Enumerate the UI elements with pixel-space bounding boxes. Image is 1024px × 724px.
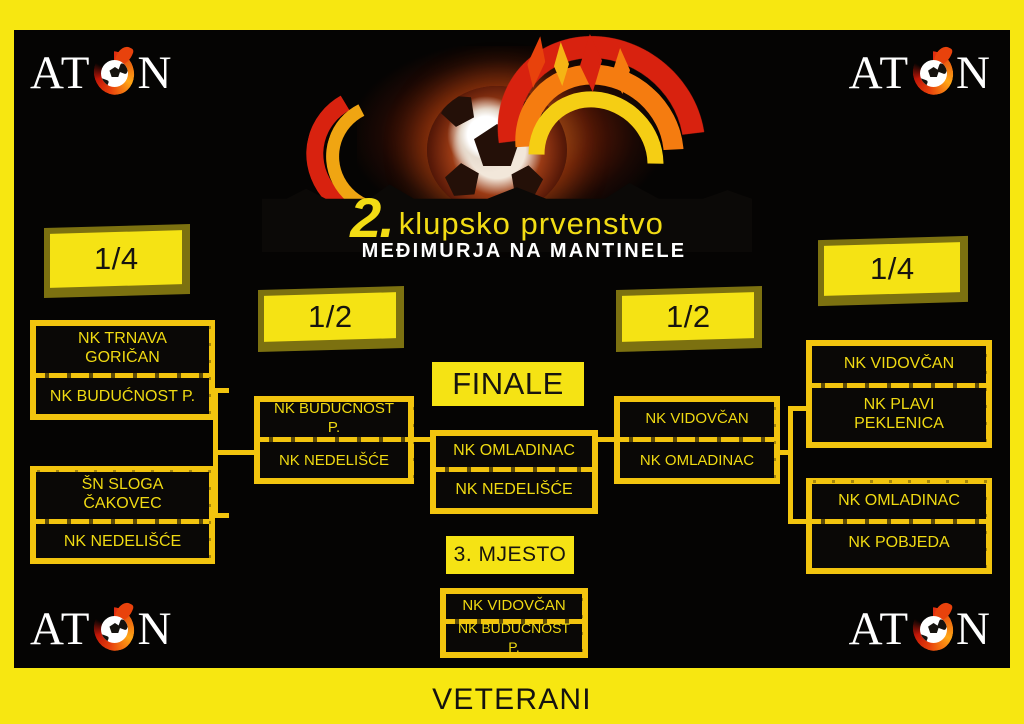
- team-name: NK TRNAVA GORIČAN: [42, 329, 203, 367]
- match-divider: [812, 383, 986, 388]
- match-third-place[interactable]: NK VIDOVČAN NK BUDUĆNOST P.: [440, 588, 588, 658]
- team-name: NK BUDUĆNOST P.: [452, 619, 576, 657]
- round-label-final: FINALE: [432, 362, 584, 406]
- team-name: NK VIDOVČAN: [844, 354, 954, 373]
- match-semifinal-right[interactable]: NK VIDOVČAN NK OMLADINAC: [614, 396, 780, 484]
- team-name: NK OMLADINAC: [838, 491, 960, 510]
- aton-logo-bottom-left: AT N: [30, 602, 173, 656]
- team-slot: NK VIDOVČAN: [618, 400, 776, 436]
- aton-logo-text-right: N: [956, 50, 992, 97]
- team-name: NK VIDOVČAN: [462, 596, 565, 615]
- team-name: NK OMLADINAC: [453, 441, 575, 460]
- team-slot: NK OMLADINAC: [618, 443, 776, 477]
- match-final[interactable]: NK OMLADINAC NK NEDELIŠĆE: [430, 430, 598, 514]
- team-slot: NK OMLADINAC: [434, 434, 594, 466]
- event-title: klupsko prvenstvo: [399, 208, 664, 240]
- event-subtitle: MEĐIMURJA NA MANTINELE: [262, 239, 752, 263]
- round-label-semi-right: 1/2: [616, 288, 762, 350]
- team-slot: NK BUDUĆNOST P.: [258, 400, 410, 436]
- team-slot: NK TRNAVA GORIČAN: [34, 324, 211, 372]
- team-name: NK BUDUĆNOST P.: [50, 387, 195, 406]
- round-label-text: 1/2: [308, 299, 353, 335]
- team-name: NK NEDELIŠĆE: [64, 532, 181, 551]
- tournament-bracket-poster: AT N AT N AT N AT: [0, 0, 1024, 724]
- match-quarterfinal-right-1[interactable]: NK VIDOVČAN NK PLAVI PEKLENICA: [806, 340, 992, 448]
- round-label-text: 1/4: [870, 251, 915, 287]
- category-banner: VETERANI: [0, 676, 1024, 724]
- category-title: VETERANI: [432, 683, 592, 717]
- soccer-ball-flame-icon: [911, 604, 955, 654]
- connector-right-quarter-merge: [776, 450, 792, 455]
- team-slot: NK POBJEDA: [810, 525, 988, 559]
- connector-right-quarter-bottom: [788, 519, 808, 524]
- match-divider: [36, 373, 209, 378]
- match-quarterfinal-left-1[interactable]: NK TRNAVA GORIČAN NK BUDUĆNOST P.: [30, 320, 215, 420]
- team-name: ŠN SLOGA ČAKOVEC: [42, 475, 203, 513]
- soccer-ball-flame-icon: [911, 48, 955, 98]
- team-slot: NK VIDOVČAN: [810, 344, 988, 382]
- aton-logo-top-right: AT N: [849, 46, 992, 100]
- match-divider: [260, 437, 408, 442]
- aton-logo-text-left: AT: [30, 50, 91, 97]
- team-name: NK BUDUĆNOST P.: [266, 399, 402, 437]
- round-label-quarter-right: 1/4: [818, 238, 968, 304]
- round-label-third-place: 3. MJESTO: [446, 536, 574, 574]
- round-label-text: 3. MJESTO: [454, 543, 567, 567]
- team-slot: NK VIDOVČAN: [444, 592, 584, 618]
- soccer-ball-flame-icon: [92, 604, 136, 654]
- aton-logo-text-left: AT: [30, 606, 91, 653]
- team-name: NK NEDELIŠĆE: [279, 451, 389, 470]
- connector-left-quarter-top: [213, 388, 229, 393]
- team-slot: NK NEDELIŠĆE: [34, 525, 211, 557]
- team-name: NK NEDELIŠĆE: [455, 480, 572, 499]
- round-label-quarter-left: 1/4: [44, 226, 190, 296]
- event-edition-number: 2.: [350, 196, 393, 240]
- event-logo-title-block: 2. klupsko prvenstvo MEĐIMURJA NA MANTIN…: [262, 196, 752, 263]
- connector-right-quarter-vertical: [788, 406, 793, 524]
- team-slot: NK NEDELIŠĆE: [434, 473, 594, 505]
- team-name: NK OMLADINAC: [640, 451, 754, 470]
- aton-logo-text-right: N: [137, 606, 173, 653]
- soccer-ball-flame-icon: [92, 48, 136, 98]
- team-slot: NK NEDELIŠĆE: [258, 443, 410, 477]
- aton-logo-text-left: AT: [849, 50, 910, 97]
- team-slot: NK OMLADINAC: [810, 482, 988, 518]
- round-label-text: 1/4: [94, 241, 139, 277]
- match-divider: [36, 519, 209, 524]
- team-slot: NK BUDUĆNOST P.: [444, 625, 584, 651]
- round-label-semi-left: 1/2: [258, 288, 404, 350]
- match-semifinal-left[interactable]: NK BUDUĆNOST P. NK NEDELIŠĆE: [254, 396, 414, 484]
- team-slot: ŠN SLOGA ČAKOVEC: [34, 470, 211, 518]
- match-divider: [620, 437, 774, 442]
- aton-logo-top-left: AT N: [30, 46, 173, 100]
- event-logo: 2. klupsko prvenstvo MEĐIMURJA NA MANTIN…: [262, 38, 752, 253]
- match-quarterfinal-right-2[interactable]: NK OMLADINAC NK POBJEDA: [806, 478, 992, 574]
- match-divider: [436, 467, 592, 472]
- match-quarterfinal-left-2[interactable]: ŠN SLOGA ČAKOVEC NK NEDELIŠĆE: [30, 466, 215, 564]
- aton-logo-bottom-right: AT N: [849, 602, 992, 656]
- connector-right-quarter-top: [788, 406, 808, 411]
- aton-logo-text-left: AT: [849, 606, 910, 653]
- aton-logo-text-right: N: [956, 606, 992, 653]
- connector-left-quarter-bottom: [213, 513, 229, 518]
- round-label-text: 1/2: [666, 299, 711, 335]
- aton-logo-text-right: N: [137, 50, 173, 97]
- connector-right-semi-to-final: [596, 437, 618, 442]
- team-name: NK VIDOVČAN: [645, 409, 748, 428]
- match-divider: [812, 519, 986, 524]
- team-slot: NK PLAVI PEKLENICA: [810, 389, 988, 439]
- round-label-text: FINALE: [452, 366, 564, 402]
- team-slot: NK BUDUĆNOST P.: [34, 379, 211, 413]
- team-name: NK POBJEDA: [848, 533, 949, 552]
- team-name: NK PLAVI PEKLENICA: [818, 395, 980, 433]
